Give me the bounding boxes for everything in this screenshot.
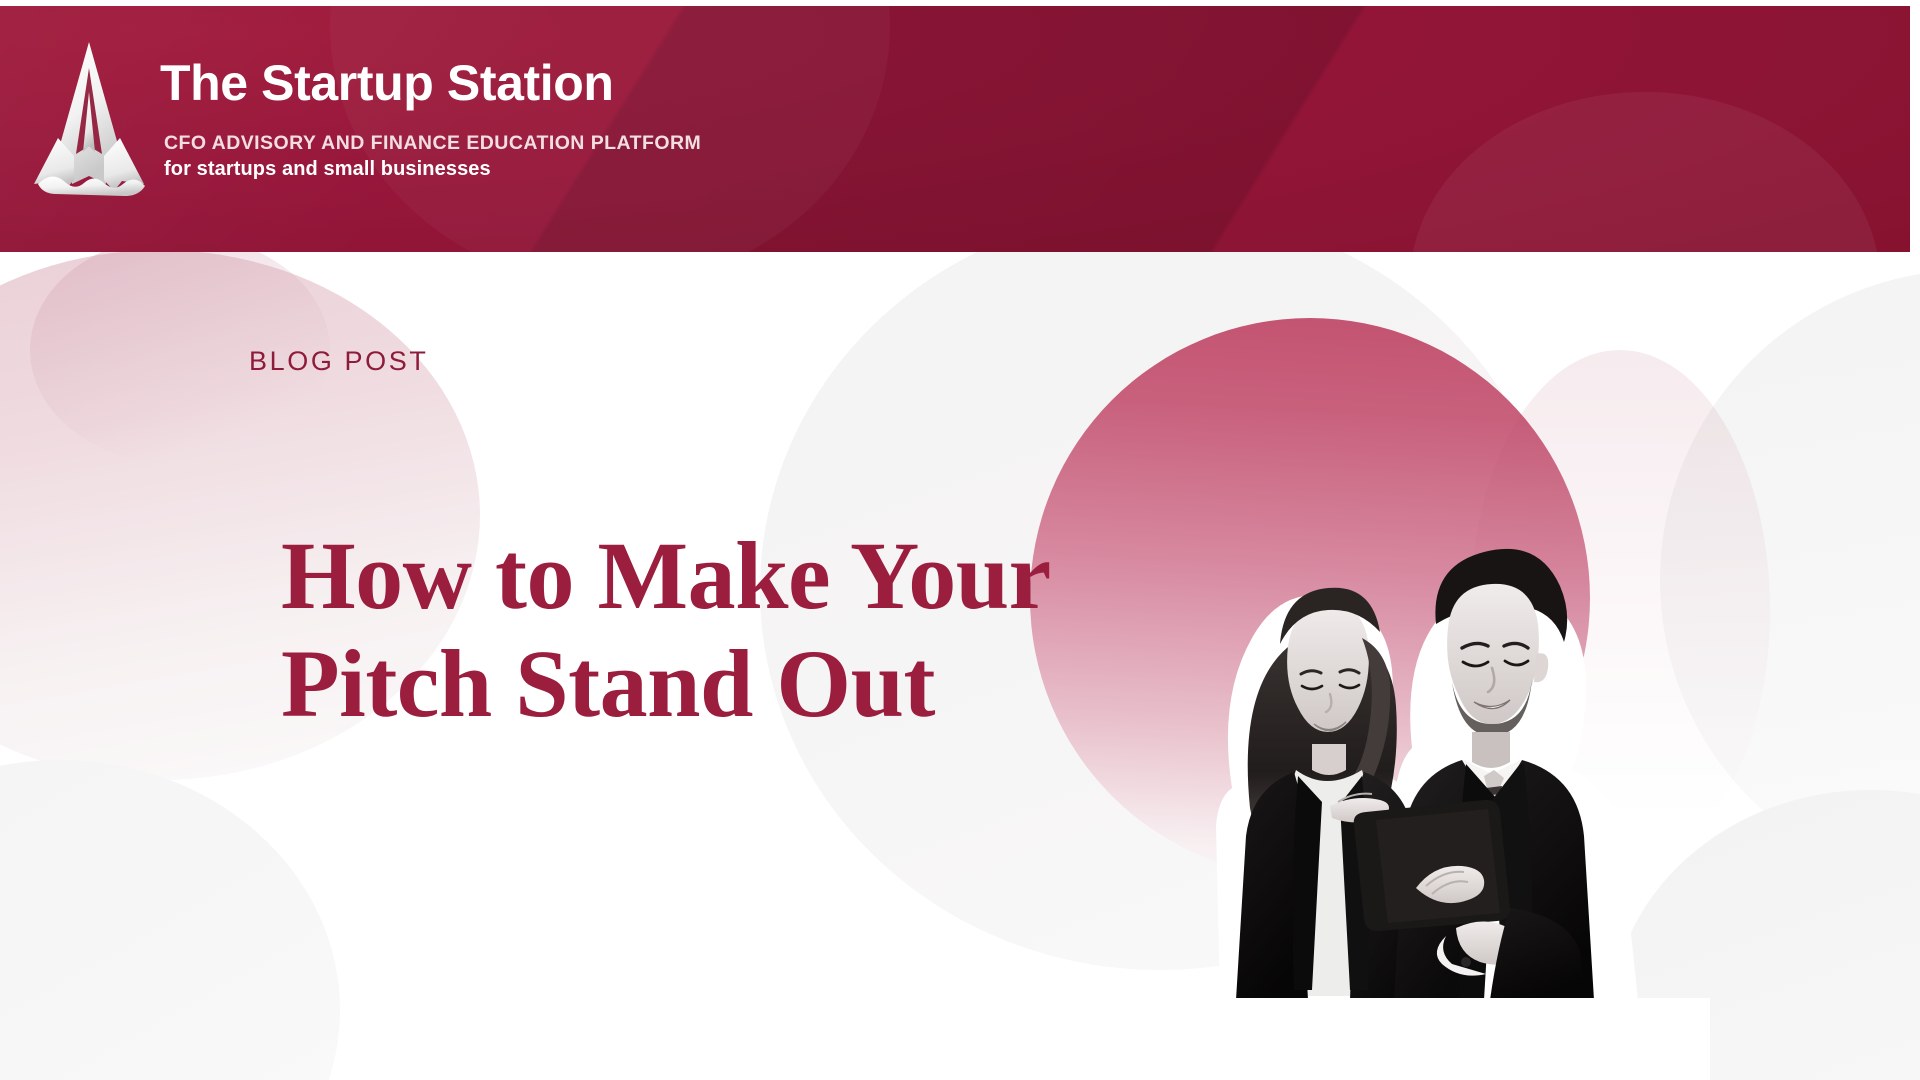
page-title-line-1: How to Make Your xyxy=(281,522,1161,630)
site-header-banner: The Startup Station CFO ADVISORY AND FIN… xyxy=(0,6,1910,252)
hero-photo-business-duo xyxy=(1180,488,1650,1000)
brand-tagline-primary: CFO ADVISORY AND FINANCE EDUCATION PLATF… xyxy=(164,132,701,155)
hero-banner-page: The Startup Station CFO ADVISORY AND FIN… xyxy=(0,0,1920,1080)
brand-tagline-secondary: for startups and small businesses xyxy=(164,158,491,181)
rocket-arrow-icon xyxy=(28,34,150,200)
page-title: How to Make Your Pitch Stand Out xyxy=(281,522,1161,738)
decor-grey-circle-right-upper xyxy=(1660,270,1920,890)
brand-title: The Startup Station xyxy=(160,58,614,108)
banner-content: The Startup Station CFO ADVISORY AND FIN… xyxy=(0,6,1910,252)
post-type-label: BLOG POST xyxy=(249,346,428,377)
photo-bottom-crop-mask xyxy=(1150,998,1710,1080)
decor-grey-circle-left xyxy=(0,760,340,1080)
page-title-line-2: Pitch Stand Out xyxy=(281,630,1161,738)
